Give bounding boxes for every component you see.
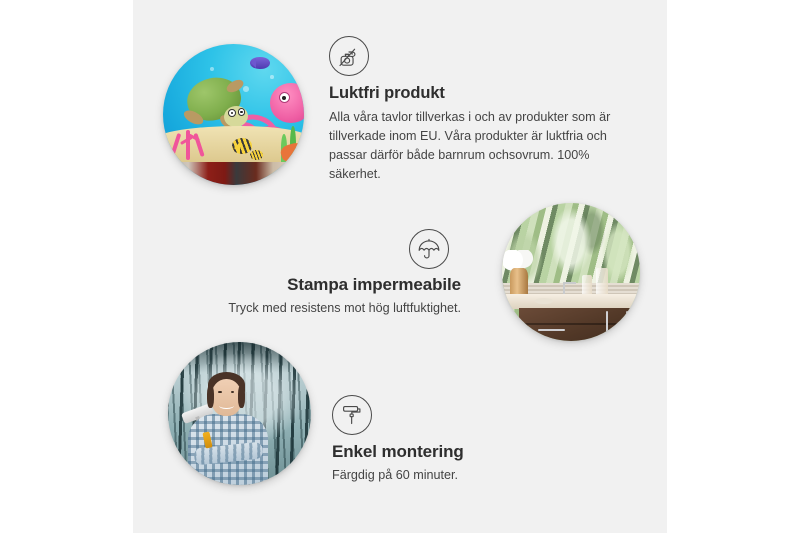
octopus-head bbox=[270, 83, 304, 122]
cabinet-handle bbox=[626, 311, 629, 333]
feature-block-odourless: Luktfri produkt Alla våra tavlor tillver… bbox=[329, 36, 629, 184]
cabinet-handle bbox=[606, 311, 609, 333]
umbrella-icon bbox=[409, 229, 449, 269]
person-smile bbox=[219, 402, 233, 409]
bubble-icon bbox=[243, 86, 249, 92]
small-striped-fish bbox=[250, 150, 263, 160]
person-hair-side bbox=[238, 385, 245, 408]
yellow-striped-fish bbox=[232, 138, 252, 154]
person-hair-side bbox=[207, 385, 214, 408]
faucet bbox=[563, 282, 566, 294]
soap-dish bbox=[535, 298, 553, 304]
bubble-icon bbox=[210, 67, 214, 71]
drawer-handle bbox=[538, 329, 566, 332]
feature-description: Färgdig på 60 minuter. bbox=[332, 466, 572, 485]
toiletry-bottle bbox=[596, 268, 608, 297]
woman-paint-roller-forest-photo bbox=[168, 342, 311, 485]
coral bbox=[169, 117, 211, 159]
no-odour-perfume-bottle-icon bbox=[329, 36, 369, 76]
feature-title: Luktfri produkt bbox=[329, 84, 629, 104]
cabinet-seam bbox=[519, 323, 640, 325]
feature-title: Stampa impermeabile bbox=[219, 275, 461, 295]
bathroom-vanity-tropical-wallpaper-photo bbox=[502, 203, 640, 341]
underwater-kids-mural-photo bbox=[163, 44, 304, 185]
feature-description: Alla våra tavlor tillverkas i och av pro… bbox=[329, 108, 625, 185]
bubble-icon bbox=[270, 75, 274, 79]
paint-roller-icon bbox=[332, 395, 372, 435]
person-eye bbox=[218, 391, 222, 393]
feature-title: Enkel montering bbox=[332, 442, 572, 462]
feature-block-easy-install: Enkel montering Färgdig på 60 minuter. bbox=[332, 395, 572, 486]
octopus-eye bbox=[279, 92, 290, 103]
feature-description: Tryck med resistens mot hög luftfuktighe… bbox=[219, 299, 461, 318]
room-floor-strip bbox=[163, 162, 304, 185]
feature-block-waterproof: Stampa impermeabile Tryck med resistens … bbox=[219, 229, 461, 319]
feature-panel: Luktfri produkt Alla våra tavlor tillver… bbox=[133, 0, 667, 533]
turtle-eye bbox=[228, 109, 236, 117]
screenshot-root: Luktfri produkt Alla våra tavlor tillver… bbox=[0, 0, 800, 533]
